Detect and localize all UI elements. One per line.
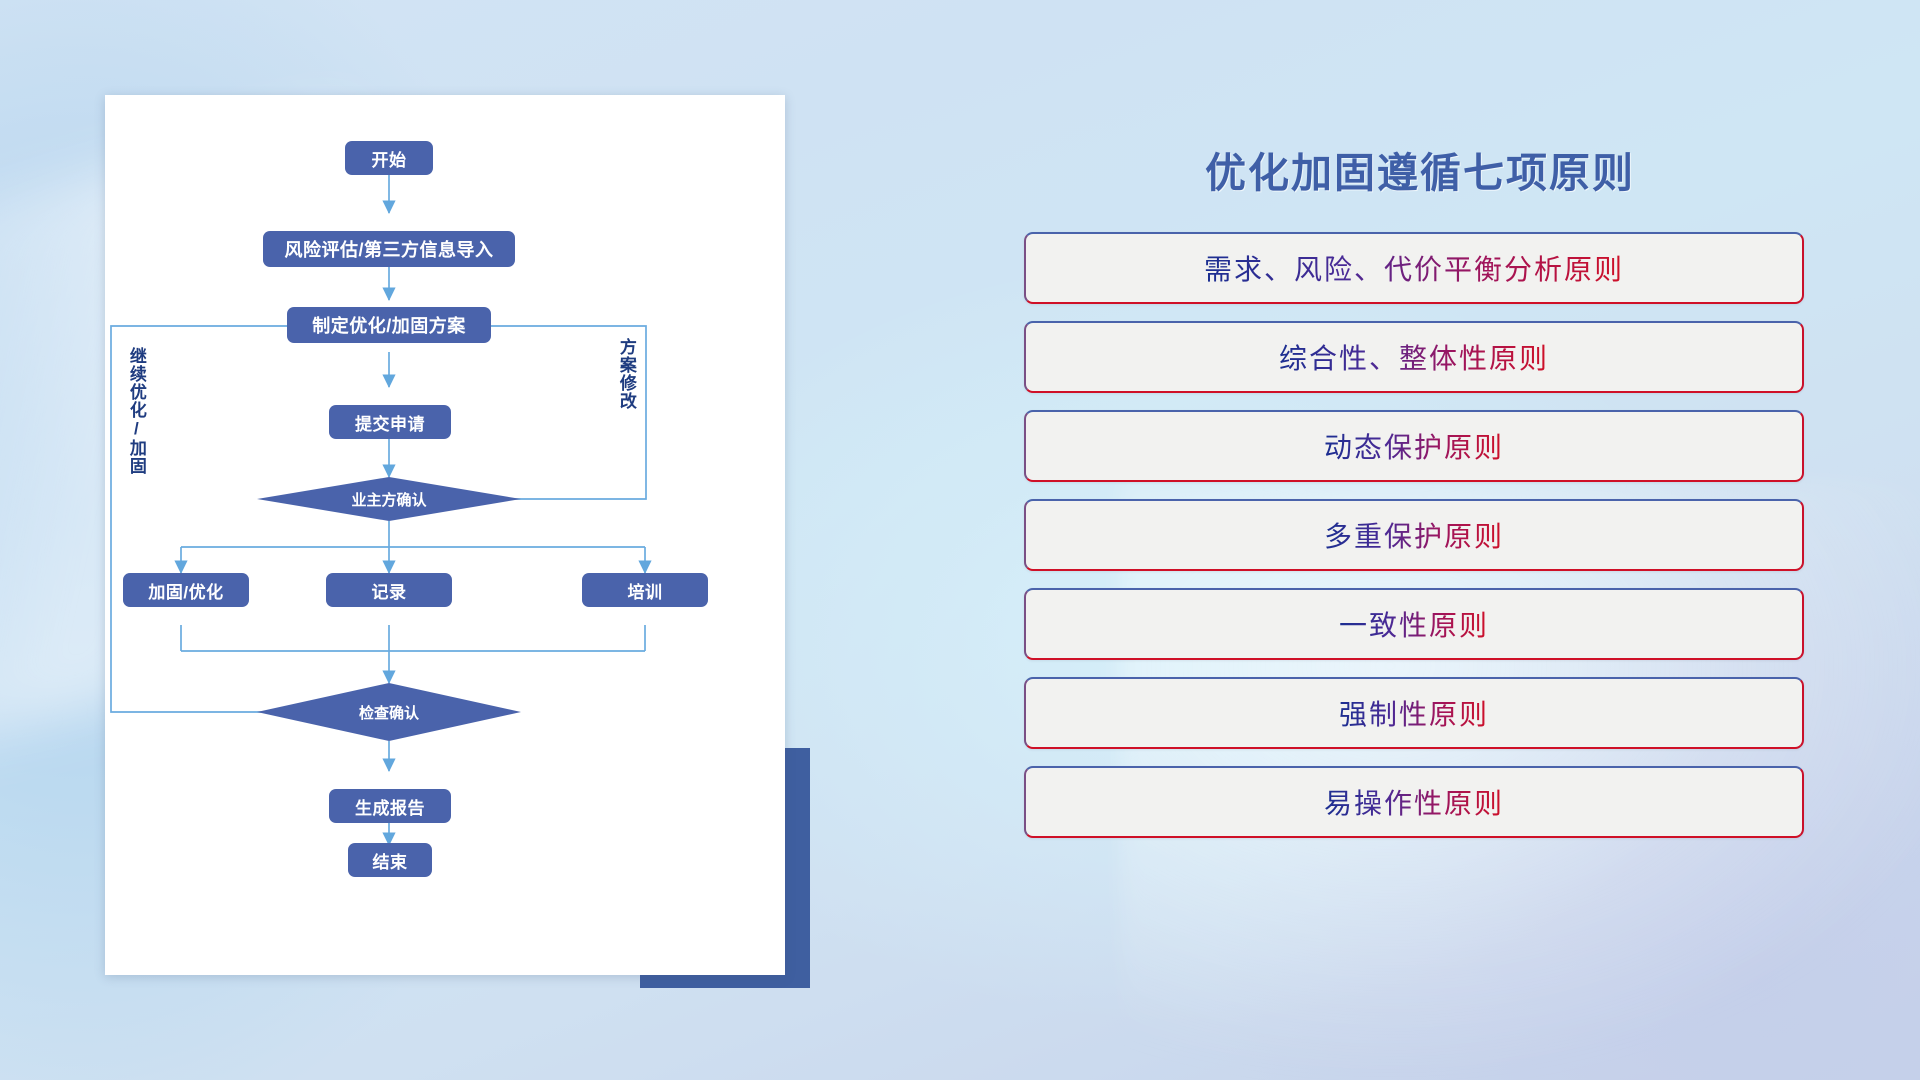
flow-node-label: 生成报告 (355, 794, 425, 819)
flow-node-label: 记录 (372, 578, 407, 603)
flow-node-report[interactable]: 生成报告 (329, 789, 451, 823)
principle-item-2[interactable]: 综合性、整体性原则 (1024, 321, 1804, 393)
principle-item-1[interactable]: 需求、风险、代价平衡分析原则 (1024, 232, 1804, 304)
flow-node-label: 开始 (372, 146, 407, 171)
principle-item-7[interactable]: 易操作性原则 (1024, 766, 1804, 838)
flow-node-label: 培训 (628, 578, 663, 603)
principle-label: 需求、风险、代价平衡分析原则 (1204, 248, 1624, 288)
principle-label: 一致性原则 (1339, 604, 1489, 644)
principles-list: 需求、风险、代价平衡分析原则 综合性、整体性原则 动态保护原则 多重保护原则 一… (1024, 232, 1804, 855)
principle-item-4[interactable]: 多重保护原则 (1024, 499, 1804, 571)
flow-node-label: 加固/优化 (148, 578, 223, 603)
principle-label: 多重保护原则 (1324, 515, 1504, 555)
principle-label: 易操作性原则 (1324, 782, 1504, 822)
principle-item-5[interactable]: 一致性原则 (1024, 588, 1804, 660)
principle-label: 强制性原则 (1339, 693, 1489, 733)
flow-node-label: 提交申请 (355, 410, 425, 435)
principle-item-3[interactable]: 动态保护原则 (1024, 410, 1804, 482)
flow-node-label: 风险评估/第三方信息导入 (285, 236, 494, 262)
flow-node-label: 结束 (373, 848, 408, 873)
flow-node-label: 制定优化/加固方案 (312, 312, 466, 338)
flow-node-record[interactable]: 记录 (326, 573, 452, 607)
flow-node-training[interactable]: 培训 (582, 573, 708, 607)
flow-node-plan[interactable]: 制定优化/加固方案 (287, 307, 491, 343)
slide-canvas: 开始 风险评估/第三方信息导入 制定优化/加固方案 提交申请 业主方确认 加固/… (0, 0, 1920, 1080)
principle-item-6[interactable]: 强制性原则 (1024, 677, 1804, 749)
flow-node-reinforce[interactable]: 加固/优化 (123, 573, 249, 607)
principle-label: 动态保护原则 (1324, 426, 1504, 466)
principles-title: 优化加固遵循七项原则 (1020, 139, 1820, 199)
edge-label-continue-optimize: 继续优化/加固 (127, 347, 145, 475)
flow-node-end[interactable]: 结束 (348, 843, 432, 877)
flow-node-risk-assessment[interactable]: 风险评估/第三方信息导入 (263, 231, 515, 267)
decision-check-shape (257, 683, 521, 741)
edge-label-plan-revision: 方案修改 (617, 338, 635, 410)
flowchart-card: 开始 风险评估/第三方信息导入 制定优化/加固方案 提交申请 业主方确认 加固/… (105, 95, 785, 975)
principle-label: 综合性、整体性原则 (1279, 337, 1549, 377)
decision-owner-shape (257, 477, 521, 521)
flow-node-submit[interactable]: 提交申请 (329, 405, 451, 439)
flowchart-connectors (105, 95, 785, 975)
flow-node-start[interactable]: 开始 (345, 141, 433, 175)
